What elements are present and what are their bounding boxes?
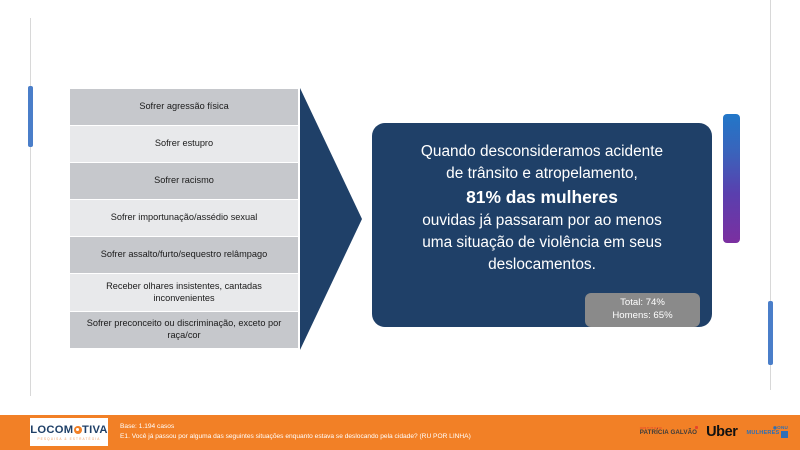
callout-panel: Quando desconsideramos acidente de trâns… bbox=[372, 123, 712, 327]
list-item: Sofrer estupro bbox=[70, 126, 298, 163]
left-vertical-rule bbox=[30, 18, 31, 396]
list-item: Sofrer preconceito ou discriminação, exc… bbox=[70, 312, 298, 349]
partner-logos: INSTITUTO PATRÍCIA GALVÃO Uber ◉ONU MULH… bbox=[640, 420, 788, 444]
left-accent-bar bbox=[28, 86, 33, 147]
callout-line-3: ouvidas já passaram por ao menos bbox=[422, 212, 662, 229]
list-item-label: Sofrer importunação/assédio sexual bbox=[111, 212, 258, 224]
stat-badge: Total: 74% Homens: 65% bbox=[585, 293, 700, 327]
gradient-accent-bar bbox=[723, 114, 740, 243]
list-item-label: Sofrer racismo bbox=[154, 175, 214, 187]
slide-canvas: Sofrer agressão física Sofrer estupro So… bbox=[0, 0, 800, 450]
onu-emblem-icon bbox=[781, 431, 788, 438]
locomotiva-dot-icon bbox=[74, 426, 82, 434]
callout-text: Quando desconsideramos acidente de trâns… bbox=[390, 141, 694, 276]
right-arrow-icon bbox=[300, 88, 362, 350]
pg-logo-main: PATRÍCIA GALVÃO bbox=[640, 430, 697, 436]
onu-mulheres-logo: ◉ONU MULHERES bbox=[747, 426, 789, 438]
options-list: Sofrer agressão física Sofrer estupro So… bbox=[70, 89, 298, 349]
pg-mark-icon bbox=[695, 426, 698, 429]
list-item-label: Sofrer assalto/furto/sequestro relâmpago bbox=[101, 249, 267, 261]
onu-logo-main-text: MULHERES bbox=[747, 431, 780, 437]
callout-emphasis: 81% das mulheres bbox=[466, 187, 618, 207]
list-item: Receber olhares insistentes, cantadas in… bbox=[70, 274, 298, 312]
callout-line-5: deslocamentos. bbox=[488, 256, 596, 273]
locomotiva-tagline: PESQUISA & ESTRATÉGIA bbox=[37, 437, 100, 441]
locomotiva-logo: LOCOMTIVA PESQUISA & ESTRATÉGIA bbox=[30, 418, 108, 446]
callout-line-4: uma situação de violência em seus bbox=[422, 234, 662, 251]
list-item: Sofrer agressão física bbox=[70, 89, 298, 126]
list-item: Sofrer importunação/assédio sexual bbox=[70, 200, 298, 237]
callout-line-1: Quando desconsideramos acidente bbox=[421, 143, 663, 160]
list-item: Sofrer assalto/furto/sequestro relâmpago bbox=[70, 237, 298, 274]
list-item: Sofrer racismo bbox=[70, 163, 298, 200]
uber-logo: Uber bbox=[706, 424, 737, 440]
right-accent-bar bbox=[768, 301, 773, 365]
footer-note-line-1: Base: 1.194 casos bbox=[120, 422, 471, 432]
footer-note: Base: 1.194 casos E1. Você já passou por… bbox=[120, 422, 471, 442]
locomotiva-word-start: LOCOM bbox=[30, 424, 73, 436]
locomotiva-wordmark: LOCOMTIVA bbox=[30, 424, 108, 436]
list-item-label: Sofrer preconceito ou discriminação, exc… bbox=[76, 318, 292, 342]
stat-total: Total: 74% bbox=[585, 297, 700, 310]
locomotiva-word-end: TIVA bbox=[82, 424, 108, 436]
instituto-patricia-galvao-logo: INSTITUTO PATRÍCIA GALVÃO bbox=[640, 427, 697, 436]
footer-note-line-2: E1. Você já passou por alguma das seguin… bbox=[120, 432, 471, 442]
callout-line-2: de trânsito e atropelamento, bbox=[446, 165, 638, 182]
stat-homens: Homens: 65% bbox=[585, 310, 700, 323]
list-item-label: Receber olhares insistentes, cantadas in… bbox=[76, 281, 292, 305]
list-item-label: Sofrer agressão física bbox=[139, 101, 228, 113]
list-item-label: Sofrer estupro bbox=[155, 138, 213, 150]
onu-logo-main: MULHERES bbox=[747, 431, 789, 438]
